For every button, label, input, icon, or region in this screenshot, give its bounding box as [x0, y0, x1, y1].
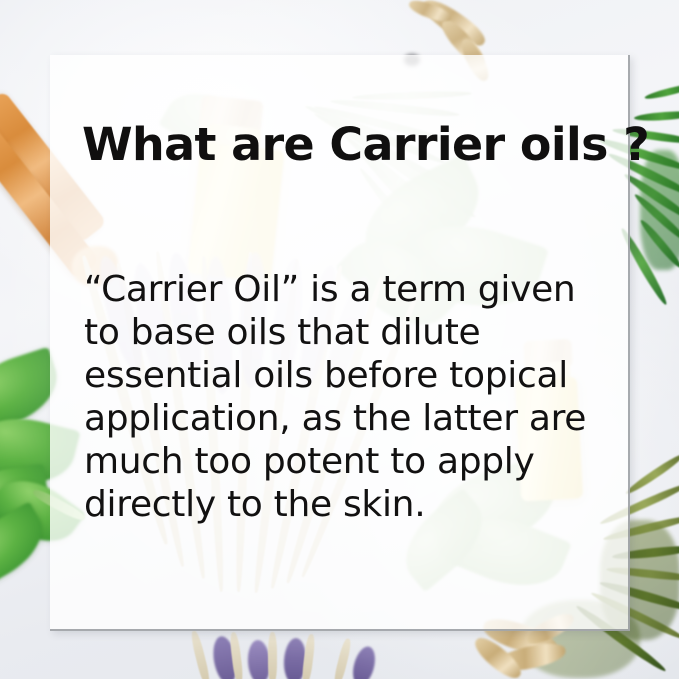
body-line: much too potent to apply [84, 440, 624, 483]
body-line: essential oils before topical [84, 354, 624, 397]
body-line: application, as the latter are [84, 397, 624, 440]
page-title: What are Carrier oils ? [82, 118, 649, 171]
body-line: “Carrier Oil” is a term given [84, 268, 624, 311]
text-content: What are Carrier oils ? “Carrier Oil” is… [0, 0, 679, 679]
body-paragraph: “Carrier Oil” is a term given to base oi… [84, 268, 624, 526]
body-line: to base oils that dilute [84, 311, 624, 354]
body-line: directly to the skin. [84, 483, 624, 526]
infographic-canvas: What are Carrier oils ? “Carrier Oil” is… [0, 0, 679, 679]
